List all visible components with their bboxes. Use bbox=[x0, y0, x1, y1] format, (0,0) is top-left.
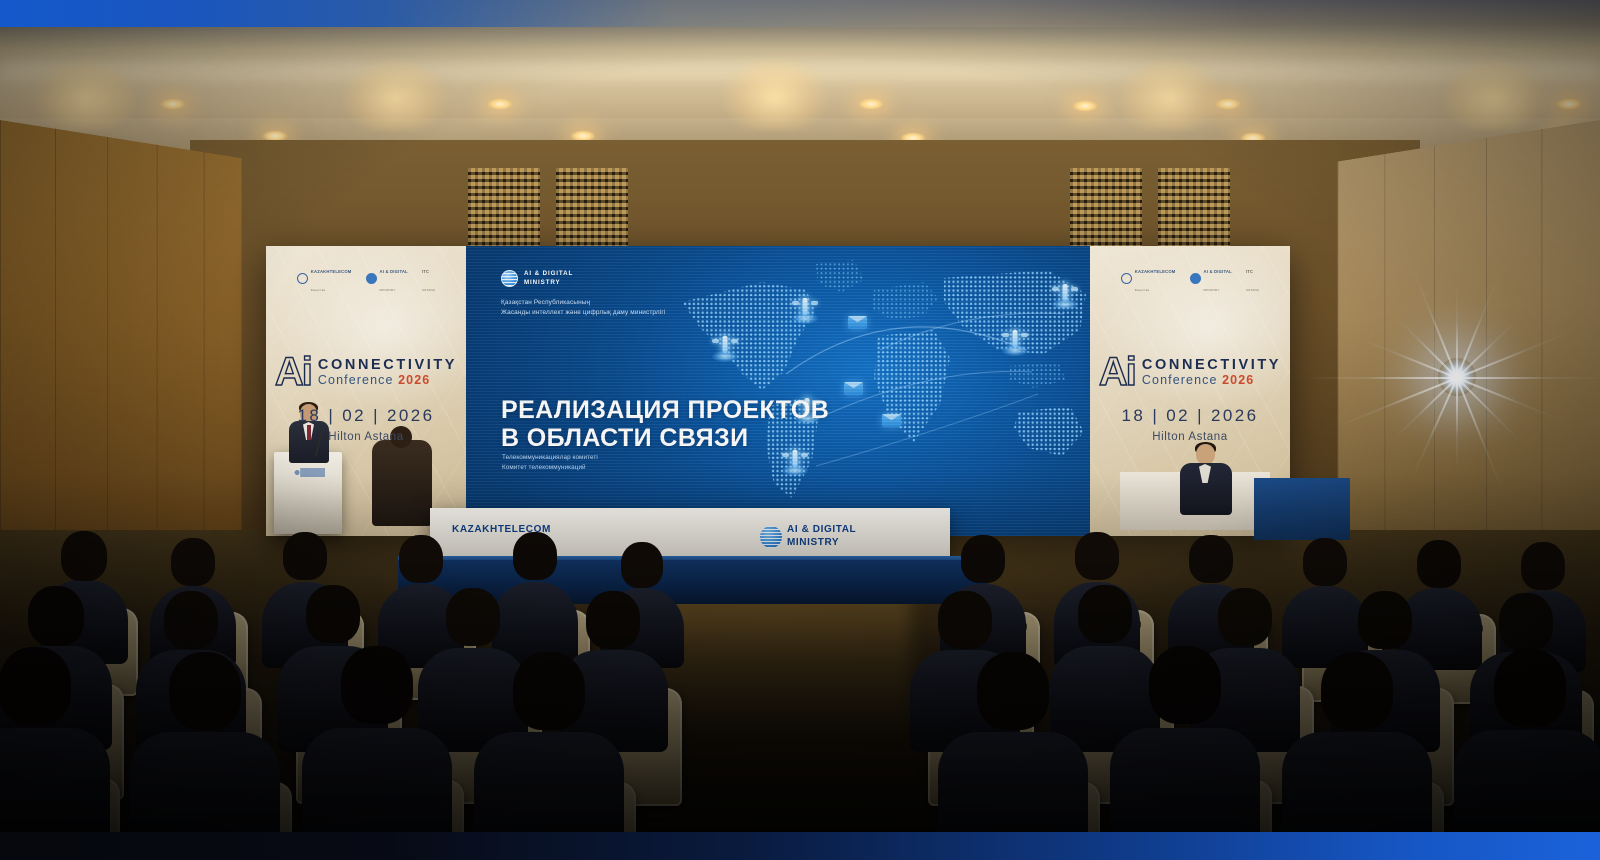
ceiling-wallwash-glow bbox=[700, 20, 850, 130]
ceiling-downlight bbox=[858, 98, 884, 110]
network-tower-icon bbox=[1002, 326, 1028, 356]
ceiling-downlight bbox=[1215, 98, 1241, 110]
audience-head bbox=[1075, 532, 1119, 580]
sponsor-logo-kazakhtelecom: KAZAKHTELECOM Качество bbox=[1121, 260, 1176, 296]
ceiling-wallwash-glow bbox=[1095, 20, 1245, 130]
audience-head bbox=[1494, 649, 1566, 727]
sponsor-logo-row: KAZAKHTELECOM Качество AI & DIGITAL MINI… bbox=[1090, 260, 1290, 296]
audience-head bbox=[1189, 535, 1233, 583]
audience-head bbox=[586, 591, 640, 649]
conference-subtitle: Conference 2026 bbox=[318, 373, 457, 387]
network-tower-icon bbox=[792, 294, 818, 324]
message-envelope-icon bbox=[848, 316, 867, 329]
sponsor-name: KAZAKHTELECOM bbox=[311, 269, 352, 274]
audience-head bbox=[1149, 646, 1221, 724]
sponsor-sub: MINISTRY bbox=[1204, 288, 1220, 292]
globe-icon bbox=[501, 270, 518, 287]
audience-head bbox=[341, 646, 413, 724]
screenshot-root: KAZAKHTELECOM Качество AI & DIGITAL MINI… bbox=[0, 0, 1600, 860]
sponsor-logo-ministry: AI & DIGITAL MINISTRY bbox=[366, 260, 408, 296]
audience-head bbox=[164, 591, 218, 649]
ceiling-downlight bbox=[160, 98, 186, 110]
led-logo-text: AI & DIGITAL MINISTRY bbox=[524, 270, 573, 287]
audience-head bbox=[399, 535, 443, 583]
sponsor-sub: Качество bbox=[1135, 288, 1150, 292]
audience-seating bbox=[0, 460, 1600, 860]
ai-logo-mark: Ai bbox=[275, 354, 311, 390]
audience-head bbox=[1499, 593, 1553, 651]
led-logo-line1: AI & DIGITAL bbox=[524, 270, 573, 277]
audience-head bbox=[1303, 538, 1347, 586]
audience-head bbox=[977, 652, 1049, 730]
flare-ray bbox=[1307, 377, 1457, 379]
ceiling-wallwash-glow bbox=[1420, 20, 1570, 130]
audience-head bbox=[28, 586, 84, 646]
audience-head bbox=[1078, 585, 1132, 643]
ceiling-downlight bbox=[1556, 98, 1582, 110]
flare-ray bbox=[1456, 284, 1458, 378]
network-tower-icon bbox=[712, 332, 738, 362]
audience-head bbox=[0, 647, 71, 725]
sponsor-name: AI & DIGITAL bbox=[380, 269, 408, 274]
flare-ray bbox=[1456, 378, 1458, 474]
audience-head bbox=[171, 538, 215, 586]
ministry-kk-line1: Қазақстан Республикасының bbox=[501, 299, 590, 306]
sponsor-name: AI & DIGITAL bbox=[1204, 269, 1232, 274]
audience-head bbox=[621, 542, 663, 588]
kazakhtelecom-icon bbox=[297, 273, 308, 284]
conference-title: CONNECTIVITY bbox=[318, 357, 457, 373]
sponsor-sub: Качество bbox=[311, 288, 326, 292]
sponsor-logo-itc: ITC ASTANA bbox=[1246, 260, 1259, 296]
bottom-accent-bar bbox=[0, 832, 1600, 860]
conference-subtitle-word: Conference bbox=[1142, 373, 1218, 387]
kazakhtelecom-icon bbox=[1121, 273, 1132, 284]
globe-icon bbox=[1190, 273, 1201, 284]
brand-text: CONNECTIVITY Conference 2026 bbox=[318, 357, 457, 387]
led-logo-line2: MINISTRY bbox=[524, 279, 561, 286]
message-envelope-icon bbox=[844, 382, 863, 395]
audience-head bbox=[61, 531, 107, 581]
led-ministry-logo: AI & DIGITAL MINISTRY bbox=[501, 270, 573, 287]
audience-head bbox=[283, 532, 327, 580]
sponsor-logo-itc: ITC ASTANA bbox=[422, 260, 435, 296]
flare-ray bbox=[1457, 377, 1600, 379]
conference-subtitle: Conference 2026 bbox=[1142, 373, 1281, 387]
event-venue: Hilton Astana bbox=[1090, 431, 1290, 443]
sponsor-sub: MINISTRY bbox=[380, 288, 396, 292]
slide-title: РЕАЛИЗАЦИЯ ПРОЕКТОВ В ОБЛАСТИ СВЯЗИ bbox=[501, 396, 829, 453]
globe-icon bbox=[366, 273, 377, 284]
slide-title-line1: РЕАЛИЗАЦИЯ ПРОЕКТОВ bbox=[501, 396, 829, 424]
slide-title-line2: В ОБЛАСТИ СВЯЗИ bbox=[501, 424, 829, 452]
audience-head bbox=[938, 591, 992, 649]
audience-head bbox=[513, 652, 585, 730]
conference-branding: Ai CONNECTIVITY Conference 2026 18 | 02 … bbox=[266, 354, 466, 443]
audience-head bbox=[1321, 652, 1393, 730]
sponsor-name: ITC bbox=[1246, 269, 1253, 274]
ceiling-downlight bbox=[1072, 100, 1098, 112]
audience-head bbox=[1521, 542, 1565, 590]
sponsor-logo-row: KAZAKHTELECOM Качество AI & DIGITAL MINI… bbox=[266, 260, 466, 296]
conference-year: 2026 bbox=[1222, 373, 1254, 387]
audience-head bbox=[1417, 540, 1461, 588]
message-envelope-icon bbox=[882, 414, 901, 427]
sponsor-name: ITC bbox=[422, 269, 429, 274]
event-venue: Hilton Astana bbox=[266, 431, 466, 443]
sponsor-sub: ASTANA bbox=[1246, 288, 1259, 292]
brand-lockup: Ai CONNECTIVITY Conference 2026 bbox=[266, 354, 466, 390]
audience-head bbox=[1358, 591, 1412, 649]
audience-head bbox=[961, 535, 1005, 583]
sponsor-name: KAZAKHTELECOM bbox=[1135, 269, 1176, 274]
ceiling-wallwash-glow bbox=[10, 20, 160, 130]
sponsor-logo-kazakhtelecom: KAZAKHTELECOM Качество bbox=[297, 260, 352, 296]
audience-head bbox=[306, 585, 360, 643]
conference-branding: Ai CONNECTIVITY Conference 2026 18 | 02 … bbox=[1090, 354, 1290, 443]
conference-room: KAZAKHTELECOM Качество AI & DIGITAL MINI… bbox=[0, 0, 1600, 860]
conference-subtitle-word: Conference bbox=[318, 373, 394, 387]
event-date: 18 | 02 | 2026 bbox=[266, 406, 466, 426]
ministry-kk-line2: Жасанды интеллект және цифрлық даму мини… bbox=[501, 309, 665, 316]
ai-logo-mark: Ai bbox=[1099, 354, 1135, 390]
audience-head bbox=[169, 652, 241, 730]
ceiling-wallwash-glow bbox=[320, 20, 470, 130]
sponsor-sub: ASTANA bbox=[422, 288, 435, 292]
network-tower-icon bbox=[1052, 280, 1078, 310]
audience-head bbox=[513, 532, 557, 580]
event-date: 18 | 02 | 2026 bbox=[1090, 406, 1290, 426]
audience-head bbox=[446, 588, 500, 646]
sponsor-logo-ministry: AI & DIGITAL MINISTRY bbox=[1190, 260, 1232, 296]
brand-lockup: Ai CONNECTIVITY Conference 2026 bbox=[1090, 354, 1290, 390]
ceiling-downlight bbox=[487, 98, 513, 110]
led-ministry-name: Қазақстан Республикасының Жасанды интелл… bbox=[501, 298, 665, 318]
light-flare bbox=[1452, 372, 1462, 382]
top-accent-bar bbox=[0, 0, 1600, 27]
audience-head bbox=[1218, 588, 1272, 646]
brand-text: CONNECTIVITY Conference 2026 bbox=[1142, 357, 1281, 387]
conference-title: CONNECTIVITY bbox=[1142, 357, 1281, 373]
conference-year: 2026 bbox=[398, 373, 430, 387]
